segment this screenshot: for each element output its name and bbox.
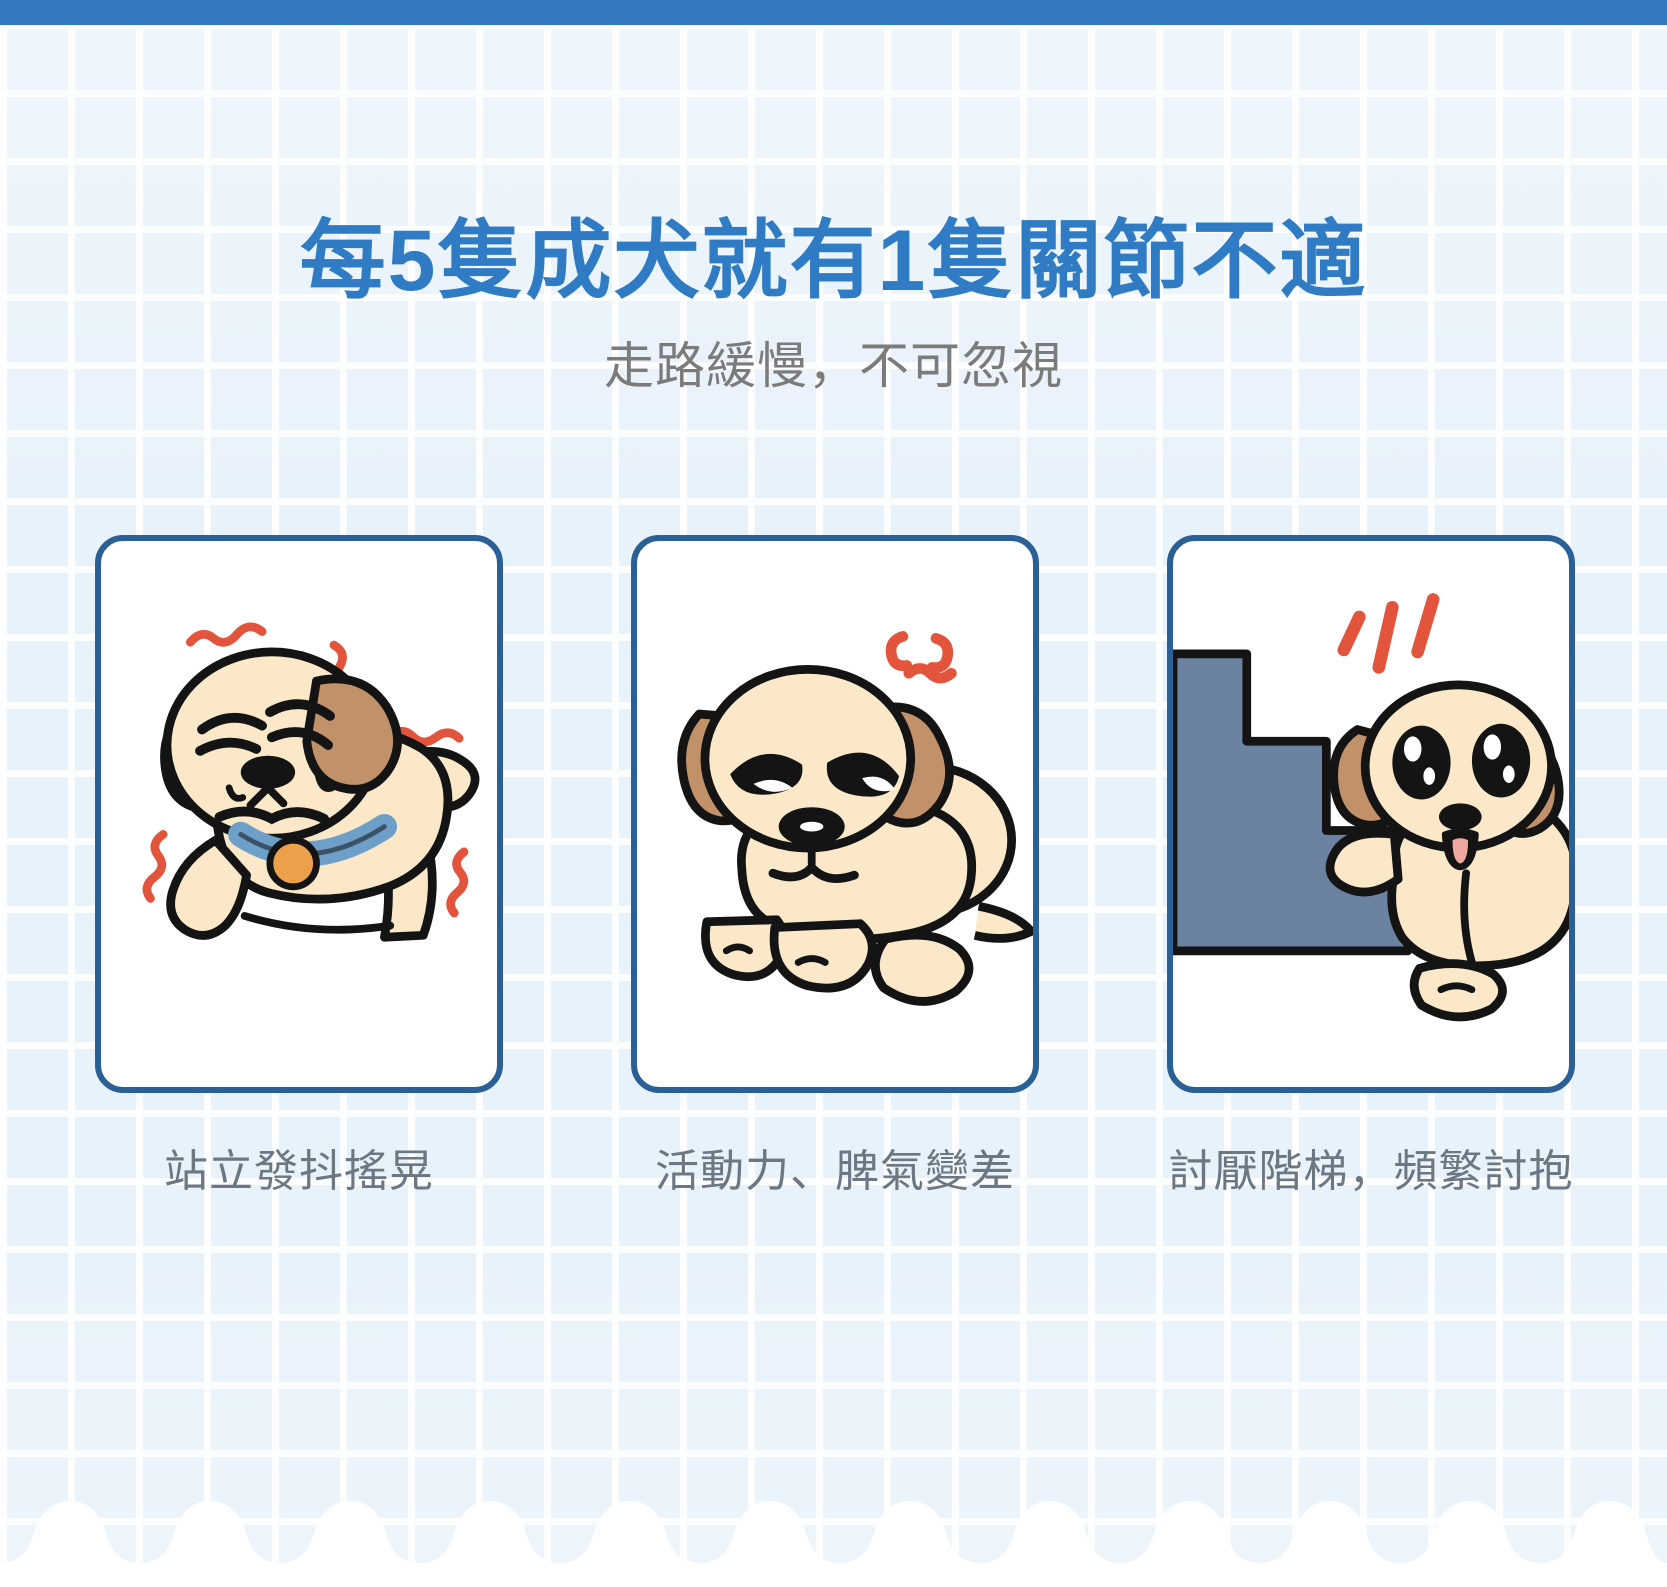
card-caption-3: 討厭階梯，頻繁討抱 <box>1169 1135 1574 1199</box>
symptom-card-1: 站立發抖搖晃 <box>95 535 503 1199</box>
top-blue-bar <box>0 0 1667 25</box>
symptom-card-2: 活動力、脾氣變差 <box>631 535 1039 1199</box>
card-frame-2 <box>631 535 1039 1093</box>
dog-body-group-3 <box>1330 685 1569 1017</box>
shaking-dog-illustration <box>101 541 497 1087</box>
page-title: 每5隻成犬就有1隻關節不適 <box>0 215 1667 308</box>
infographic-page: 每5隻成犬就有1隻關節不適 走路緩慢，不可忽視 <box>0 0 1667 1587</box>
dog-avoiding-stairs-illustration <box>1173 541 1569 1087</box>
card-frame-3 <box>1167 535 1575 1093</box>
symptom-card-3: 討厭階梯，頻繁討抱 <box>1167 535 1575 1199</box>
card-frame-1 <box>95 535 503 1093</box>
emphasis-lines-group <box>1344 600 1433 668</box>
grumpy-lying-dog-illustration <box>637 541 1033 1087</box>
anger-marks-group <box>891 636 951 678</box>
header-block: 每5隻成犬就有1隻關節不適 走路緩慢，不可忽視 <box>0 215 1667 398</box>
card-caption-2: 活動力、脾氣變差 <box>655 1135 1015 1199</box>
card-caption-1: 站立發抖搖晃 <box>164 1135 434 1199</box>
symptom-cards-row: 站立發抖搖晃 <box>95 535 1575 1199</box>
dog-body-group-2 <box>682 669 1031 1001</box>
bottom-scallop-edge <box>0 1467 1667 1587</box>
page-subtitle: 走路緩慢，不可忽視 <box>0 326 1667 398</box>
dog-body-group <box>164 652 475 937</box>
